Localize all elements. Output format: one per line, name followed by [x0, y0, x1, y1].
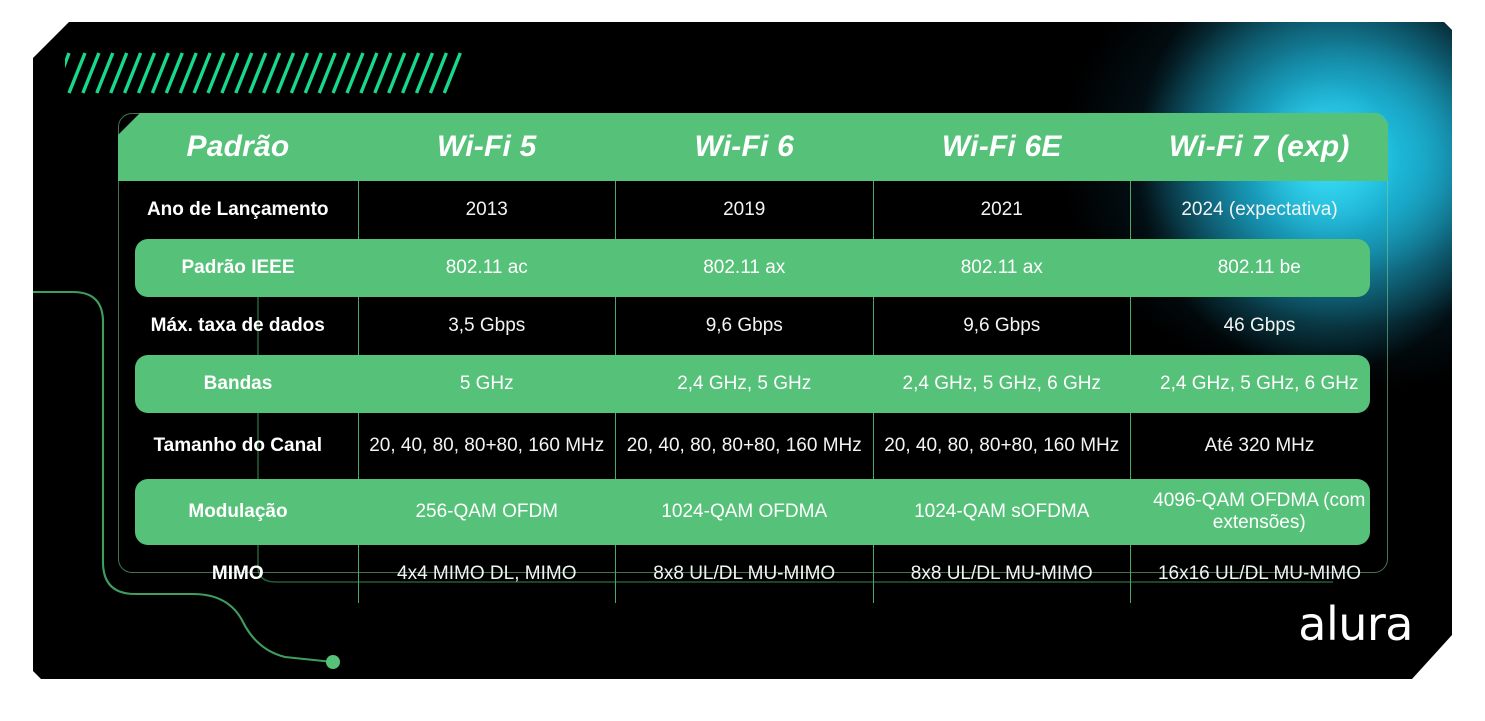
- table-row: Modulação256-QAM OFDM1024-QAM OFDMA1024-…: [118, 479, 1388, 545]
- table-cell: 256-QAM OFDM: [358, 479, 616, 545]
- cell-value: 256-QAM OFDM: [368, 501, 606, 523]
- row-label: Máx. taxa de dados: [128, 315, 348, 337]
- table-row: Máx. taxa de dados3,5 Gbps9,6 Gbps9,6 Gb…: [118, 297, 1388, 355]
- wifi-standards-table: Padrão Wi-Fi 5 Wi-Fi 6 Wi-Fi 6E Wi-Fi 7: [118, 113, 1388, 603]
- cell-value: 2,4 GHz, 5 GHz: [626, 373, 864, 395]
- cell-value: 2013: [369, 199, 606, 221]
- row-label-cell: MIMO: [118, 545, 358, 603]
- column-header-padrao: Padrão: [118, 113, 358, 181]
- cell-value: 802.11 be: [1141, 257, 1379, 279]
- cell-value: Até 320 MHz: [1141, 435, 1378, 457]
- table-cell: 16x16 UL/DL MU-MIMO: [1131, 545, 1389, 603]
- row-label: Tamanho do Canal: [128, 435, 348, 457]
- circuit-endpoint-dot: [326, 655, 340, 669]
- column-header-label: Wi-Fi 5: [437, 130, 536, 163]
- table-cell: 2021: [873, 181, 1131, 239]
- table-cell: 20, 40, 80, 80+80, 160 MHz: [873, 413, 1131, 479]
- table-row: Bandas5 GHz2,4 GHz, 5 GHz2,4 GHz, 5 GHz,…: [118, 355, 1388, 413]
- cell-value: 4096-QAM OFDMA (com extensões): [1141, 490, 1379, 535]
- table-cell: 1024-QAM sOFDMA: [873, 479, 1131, 545]
- cell-value: 4x4 MIMO DL, MIMO: [369, 563, 606, 585]
- column-header-label: Wi-Fi 7 (exp): [1169, 130, 1350, 163]
- cell-value: 2,4 GHz, 5 GHz, 6 GHz: [883, 373, 1121, 395]
- cell-value: 802.11 ac: [368, 257, 606, 279]
- cell-value: 1024-QAM sOFDMA: [883, 501, 1121, 523]
- cell-value: 20, 40, 80, 80+80, 160 MHz: [626, 435, 863, 457]
- row-label: Ano de Lançamento: [128, 199, 348, 221]
- table-cell: 3,5 Gbps: [358, 297, 616, 355]
- cell-value: 2021: [884, 199, 1121, 221]
- table-cell: 8x8 UL/DL MU-MIMO: [873, 545, 1131, 603]
- table-cell: 4x4 MIMO DL, MIMO: [358, 545, 616, 603]
- screenshot-root: alura Padrão Wi-Fi 5: [0, 0, 1485, 721]
- table-cell: 802.11 ax: [616, 239, 874, 297]
- table-body: Ano de Lançamento2013201920212024 (expec…: [118, 181, 1388, 603]
- table-cell: 9,6 Gbps: [616, 297, 874, 355]
- cell-value: 9,6 Gbps: [884, 315, 1121, 337]
- row-label: Bandas: [128, 373, 348, 395]
- table-cell: 5 GHz: [358, 355, 616, 413]
- table-header-row: Padrão Wi-Fi 5 Wi-Fi 6 Wi-Fi 6E Wi-Fi 7: [118, 113, 1388, 181]
- alura-logo: alura: [1298, 601, 1413, 647]
- table-cell: 2,4 GHz, 5 GHz, 6 GHz: [1131, 355, 1389, 413]
- column-header-label: Wi-Fi 6: [695, 130, 794, 163]
- diagonal-hatch-decoration: [65, 47, 463, 97]
- table-cell: 2,4 GHz, 5 GHz: [616, 355, 874, 413]
- row-label-cell: Máx. taxa de dados: [118, 297, 358, 355]
- row-label: MIMO: [128, 563, 348, 585]
- table-cell: 2019: [616, 181, 874, 239]
- table-cell: 20, 40, 80, 80+80, 160 MHz: [616, 413, 874, 479]
- infographic-card: alura Padrão Wi-Fi 5: [33, 22, 1452, 679]
- table-cell: 1024-QAM OFDMA: [616, 479, 874, 545]
- table-cell: 802.11 ac: [358, 239, 616, 297]
- row-label-cell: Tamanho do Canal: [118, 413, 358, 479]
- table-cell: 802.11 be: [1131, 239, 1389, 297]
- table-row: Tamanho do Canal20, 40, 80, 80+80, 160 M…: [118, 413, 1388, 479]
- column-header-label: Padrão: [187, 130, 290, 163]
- cell-value: 1024-QAM OFDMA: [626, 501, 864, 523]
- column-header-wifi5: Wi-Fi 5: [358, 113, 616, 181]
- table-cell: 2,4 GHz, 5 GHz, 6 GHz: [873, 355, 1131, 413]
- column-header-wifi6: Wi-Fi 6: [616, 113, 874, 181]
- table-row: Ano de Lançamento2013201920212024 (expec…: [118, 181, 1388, 239]
- row-label-cell: Bandas: [118, 355, 358, 413]
- table-cell: 2013: [358, 181, 616, 239]
- table-row: MIMO4x4 MIMO DL, MIMO8x8 UL/DL MU-MIMO8x…: [118, 545, 1388, 603]
- cell-value: 802.11 ax: [626, 257, 864, 279]
- cell-value: 2019: [626, 199, 863, 221]
- row-label-cell: Modulação: [118, 479, 358, 545]
- table-row: Padrão IEEE802.11 ac802.11 ax802.11 ax80…: [118, 239, 1388, 297]
- column-header-wifi6e: Wi-Fi 6E: [873, 113, 1131, 181]
- cell-value: 2,4 GHz, 5 GHz, 6 GHz: [1141, 373, 1379, 395]
- cell-value: 2024 (expectativa): [1141, 199, 1378, 221]
- table-cell: 8x8 UL/DL MU-MIMO: [616, 545, 874, 603]
- row-label-cell: Ano de Lançamento: [118, 181, 358, 239]
- cell-value: 20, 40, 80, 80+80, 160 MHz: [884, 435, 1121, 457]
- cell-value: 8x8 UL/DL MU-MIMO: [884, 563, 1121, 585]
- row-label: Modulação: [128, 501, 348, 523]
- cell-value: 9,6 Gbps: [626, 315, 863, 337]
- cell-value: 8x8 UL/DL MU-MIMO: [626, 563, 863, 585]
- cell-value: 46 Gbps: [1141, 315, 1378, 337]
- column-header-label: Wi-Fi 6E: [942, 130, 1062, 163]
- table-cell: 9,6 Gbps: [873, 297, 1131, 355]
- cell-value: 20, 40, 80, 80+80, 160 MHz: [369, 435, 606, 457]
- row-label-cell: Padrão IEEE: [118, 239, 358, 297]
- row-label: Padrão IEEE: [128, 257, 348, 279]
- table-cell: Até 320 MHz: [1131, 413, 1389, 479]
- cell-value: 802.11 ax: [883, 257, 1121, 279]
- table-header: Padrão Wi-Fi 5 Wi-Fi 6 Wi-Fi 6E Wi-Fi 7: [118, 113, 1388, 181]
- comparison-table-container: Padrão Wi-Fi 5 Wi-Fi 6 Wi-Fi 6E Wi-Fi 7: [118, 113, 1388, 573]
- table-cell: 802.11 ax: [873, 239, 1131, 297]
- table-cell: 20, 40, 80, 80+80, 160 MHz: [358, 413, 616, 479]
- table-cell: 4096-QAM OFDMA (com extensões): [1131, 479, 1389, 545]
- table-cell: 46 Gbps: [1131, 297, 1389, 355]
- cell-value: 3,5 Gbps: [369, 315, 606, 337]
- cell-value: 16x16 UL/DL MU-MIMO: [1141, 563, 1378, 585]
- table-cell: 2024 (expectativa): [1131, 181, 1389, 239]
- cell-value: 5 GHz: [368, 373, 606, 395]
- column-header-wifi7: Wi-Fi 7 (exp): [1131, 113, 1389, 181]
